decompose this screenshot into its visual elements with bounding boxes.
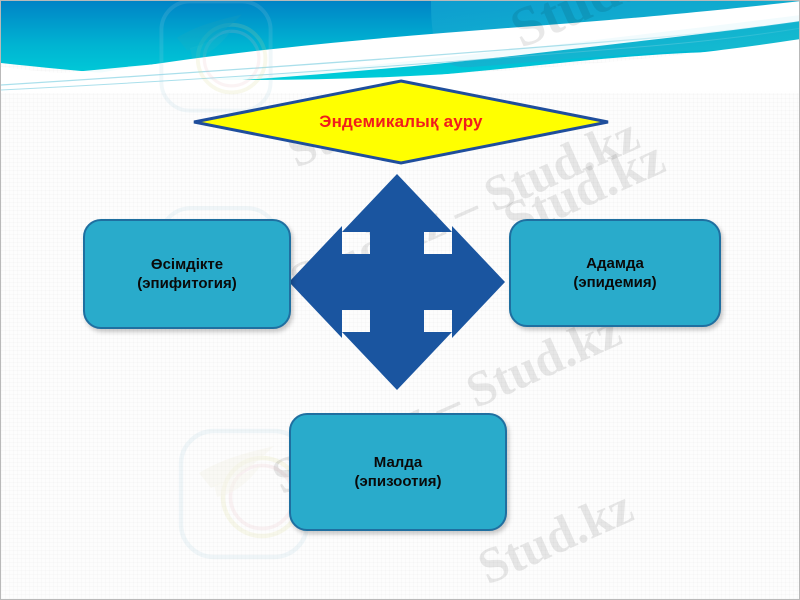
quad-arrow-shape (289, 174, 505, 390)
slide-canvas: Stud.kz Stud.kz Stud.kz Stud.kz – Stud.k… (0, 0, 800, 600)
node-title-plant: Өсімдікте (151, 255, 223, 275)
diagram-title-node[interactable]: Эндемикалық ауру (191, 79, 611, 165)
diagram-title-label: Эндемикалық ауру (191, 79, 611, 165)
quad-arrow-icon (286, 171, 508, 393)
node-title-animal: Малда (374, 453, 422, 473)
node-title-human: Адамда (586, 254, 644, 274)
node-box-human[interactable]: Адамда (эпидемия) (509, 219, 721, 327)
node-box-animal[interactable]: Малда (эпизоотия) (289, 413, 507, 531)
node-subtitle-animal: (эпизоотия) (355, 472, 442, 492)
node-box-plant[interactable]: Өсімдікте (эпифитогия) (83, 219, 291, 329)
node-subtitle-human: (эпидемия) (573, 273, 656, 293)
node-subtitle-plant: (эпифитогия) (137, 274, 236, 294)
